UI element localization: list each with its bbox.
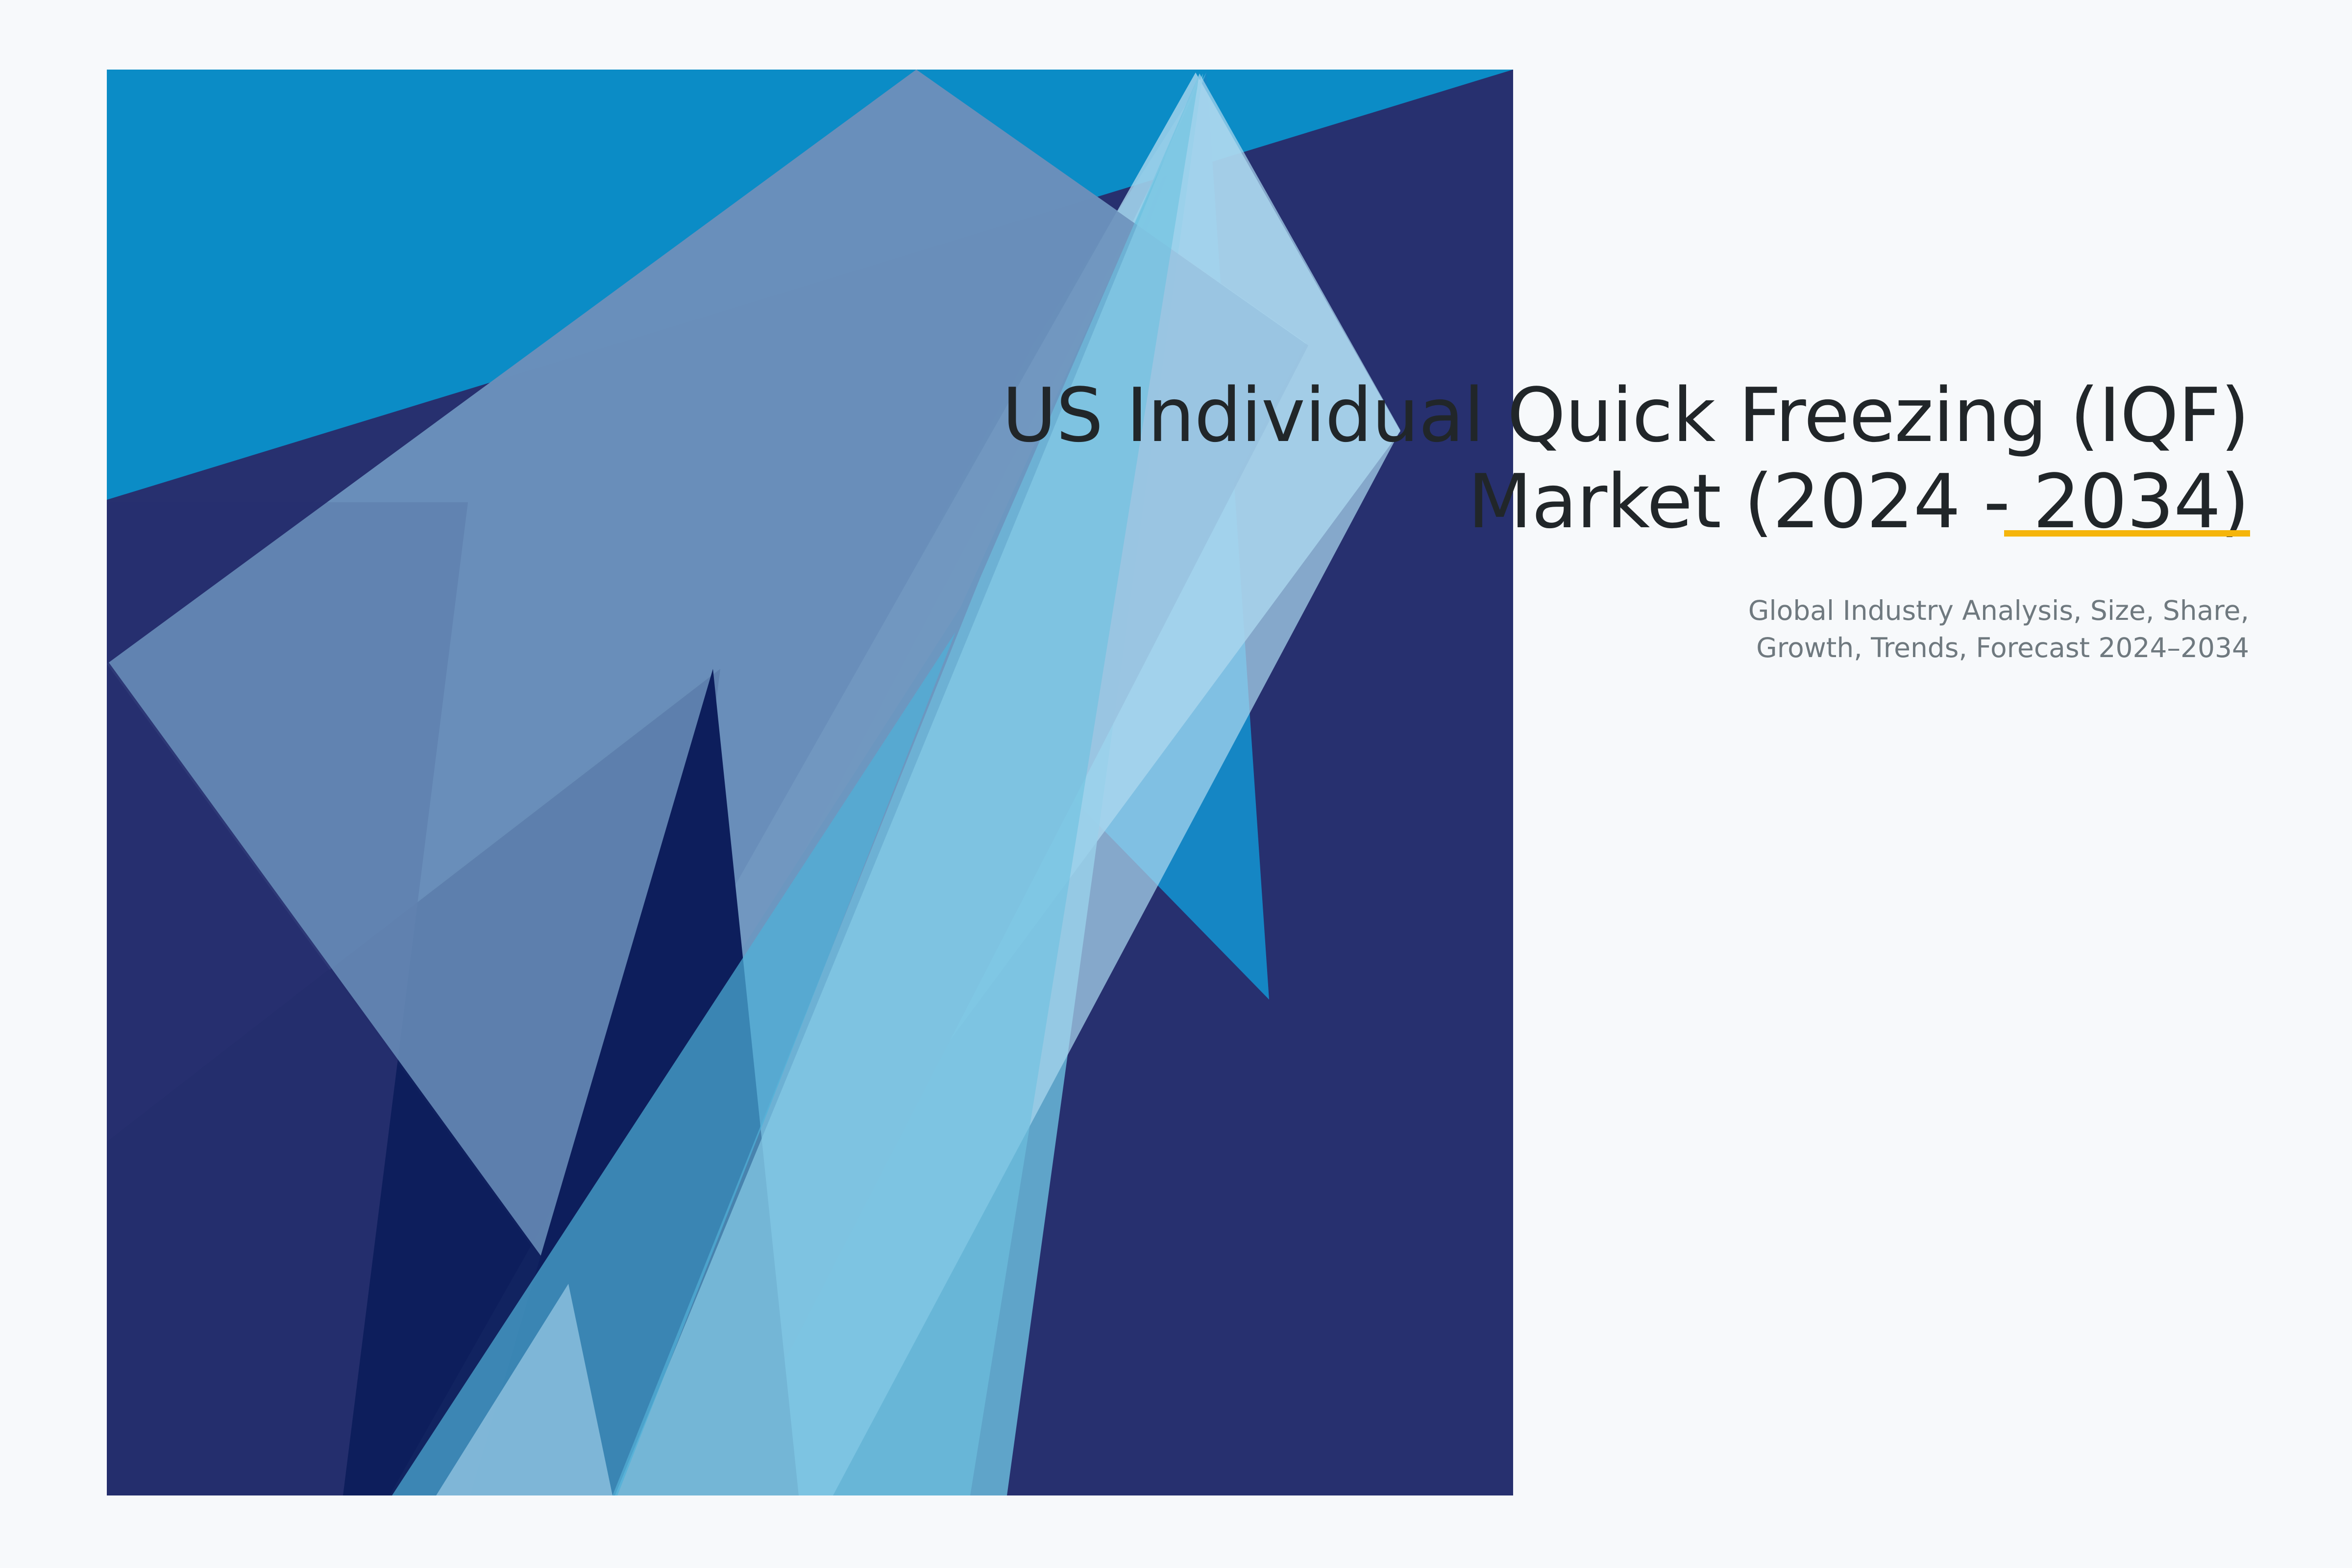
abstract-geometric-cover-graphic — [0, 0, 2352, 1568]
cover-text-block: US Individual Quick Freezing (IQF) Marke… — [980, 372, 2249, 666]
page-title: US Individual Quick Freezing (IQF) Marke… — [980, 372, 2249, 545]
title-underline-bar — [2004, 530, 2250, 537]
report-cover-page: US Individual Quick Freezing (IQF) Marke… — [0, 0, 2352, 1568]
page-subtitle: Global Industry Analysis, Size, Share, G… — [980, 545, 2249, 667]
